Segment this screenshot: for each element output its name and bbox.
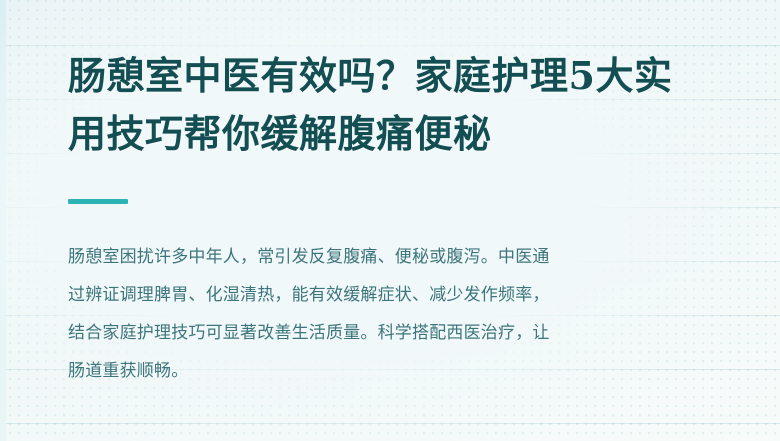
article-summary-line-4: 肠道重获顺畅。 [68, 352, 748, 390]
title-accent-bar [68, 199, 128, 204]
page-title: 肠憩室中医有效吗？家庭护理5大实 用技巧帮你缓解腹痛便秘 [68, 47, 728, 163]
article-summary-line-3: 结合家庭护理技巧可显著改善生活质量。科学搭配西医治疗，让 [68, 314, 748, 352]
article-hero-card: 肠憩室中医有效吗？家庭护理5大实 用技巧帮你缓解腹痛便秘 肠憩室困扰许多中年人，… [0, 0, 780, 441]
article-summary: 肠憩室困扰许多中年人，常引发反复腹痛、便秘或腹泻。中医通 过辨证调理脾胃、化湿清… [68, 238, 748, 390]
card-content: 肠憩室中医有效吗？家庭护理5大实 用技巧帮你缓解腹痛便秘 肠憩室困扰许多中年人，… [0, 0, 780, 441]
page-title-line-1: 肠憩室中医有效吗？家庭护理5大实 [68, 47, 728, 105]
article-summary-line-2: 过辨证调理脾胃、化湿清热，能有效缓解症状、减少发作频率， [68, 276, 748, 314]
page-title-line-2: 用技巧帮你缓解腹痛便秘 [68, 105, 728, 163]
article-summary-line-1: 肠憩室困扰许多中年人，常引发反复腹痛、便秘或腹泻。中医通 [68, 238, 748, 276]
